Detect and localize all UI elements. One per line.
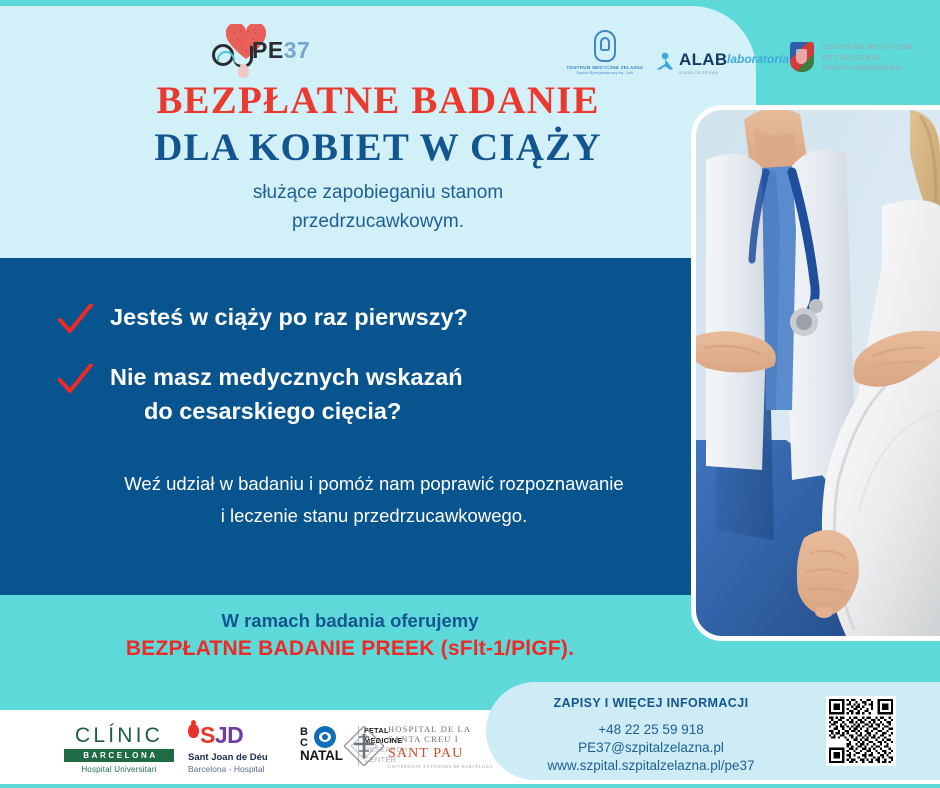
sjd-line2: Barcelona - Hospital — [188, 764, 292, 774]
headline-line1: BEZPŁATNE BADANIE — [0, 78, 756, 124]
pe37-letter-p: P — [252, 37, 268, 63]
checklist: Jesteś w ciąży po raz pierwszy? Nie masz… — [58, 300, 678, 454]
clinic-name: CLÍNIC — [64, 724, 174, 747]
contact-title: ZAPISY I WIĘCEJ INFORMACJI — [506, 696, 796, 710]
checklist-item-text: Nie masz medycznych wskazań do cesarskie… — [110, 360, 678, 428]
checklist-item-text: Jesteś w ciąży po raz pierwszy? — [110, 300, 678, 334]
clinic-barcelona-bar: BARCELONA — [64, 749, 174, 762]
contact-phone[interactable]: +48 22 25 59 918 — [506, 721, 796, 739]
logo-sant-joan-de-deu: SJD Sant Joan de Déu Barcelona - Hospita… — [188, 724, 292, 774]
qr-code[interactable] — [826, 696, 896, 766]
hero-headline: BEZPŁATNE BADANIE DLA KOBIET W CIĄŻY słu… — [0, 78, 756, 236]
alab-tagline: szansa na zdrowie — [679, 70, 719, 75]
cmkp-line1: CENTRUM MEDYCZNE — [822, 42, 914, 53]
body-paragraph: Weź udział w badaniu i pomóż nam poprawi… — [58, 468, 690, 532]
sant-pau-line2: SANTA CREU I — [388, 734, 494, 744]
offer-block: W ramach badania oferujemy BEZPŁATNE BAD… — [0, 608, 700, 664]
checklist-item-line2: do cesarskiego cięcia? — [144, 394, 678, 428]
sjd-letter-d: D — [227, 722, 243, 748]
checklist-item: Nie masz medycznych wskazań do cesarskie… — [58, 360, 678, 428]
bcnatal-natal: NATAL — [300, 748, 343, 763]
contact-email[interactable]: PE37@szpitalzelazna.pl — [506, 739, 796, 757]
bcnatal-bc: B C — [300, 727, 308, 749]
pe37-wordmark: PE37 — [252, 37, 310, 64]
sjd-letter-s: S — [200, 722, 215, 748]
alab-italic: laboratoria — [727, 52, 789, 66]
check-icon — [58, 304, 94, 334]
header-logo-row: PE37 CENTRUM MEDYCZNE ŻELAZNA Szpital Sp… — [0, 14, 940, 78]
headline-line2: DLA KOBIET W CIĄŻY — [0, 124, 756, 172]
sjd-abbreviation: SJD — [200, 722, 243, 749]
hero-subhead: służące zapobieganiu stanom przedrzucawk… — [0, 178, 756, 236]
paragraph-line2: i leczenie stanu przedrzucawkowego. — [58, 500, 690, 532]
contact-text: ZAPISY I WIĘCEJ INFORMACJI +48 22 25 59 … — [506, 696, 796, 775]
poster-root: PE37 CENTRUM MEDYCZNE ŻELAZNA Szpital Sp… — [0, 0, 940, 788]
cmkp-text: CENTRUM MEDYCZNE KSZTAŁCENIA PODYPLOMOWE… — [822, 42, 914, 74]
sant-pau-cross-icon — [344, 726, 384, 766]
subhead-line1: służące zapobieganiu stanom — [0, 178, 756, 207]
pe37-number: 37 — [284, 37, 311, 63]
pe37-logo: PE37 — [196, 24, 300, 76]
eye-icon — [314, 726, 336, 748]
sjd-line1: Sant Joan de Déu — [188, 752, 292, 763]
zelazna-line1: CENTRUM MEDYCZNE ŻELAZNA — [562, 65, 648, 70]
sjd-letter-j: J — [215, 722, 227, 748]
logo-clinic-barcelona: CLÍNIC BARCELONA Hospital Universitari — [64, 724, 174, 774]
subhead-line2: przedrzucawkowym. — [0, 207, 756, 236]
contact-panel: ZAPISY I WIĘCEJ INFORMACJI +48 22 25 59 … — [486, 682, 940, 780]
bottom-teal-hairline — [0, 784, 940, 788]
partner-logo-row: CLÍNIC BARCELONA Hospital Universitari S… — [0, 718, 500, 782]
sant-pau-name: SANT PAU — [388, 746, 494, 762]
alab-name: ALAB — [679, 50, 727, 70]
sjd-mark-row: SJD — [188, 724, 292, 750]
cmkp-line2: KSZTAŁCENIA — [822, 53, 914, 64]
zelazna-line2: Szpital Specjalistyczny św. Zofii — [562, 71, 648, 75]
alab-mark-icon — [655, 52, 675, 70]
cmkp-shield-icon — [790, 42, 814, 72]
zelazna-mark-icon — [594, 30, 616, 62]
doctor-with-pregnant-woman-photo — [696, 110, 940, 636]
offer-line1: W ramach badania oferujemy — [0, 608, 700, 634]
check-icon — [58, 364, 94, 394]
clinic-subtitle: Hospital Universitari — [64, 765, 174, 774]
offer-line2: BEZPŁATNE BADANIE PREEK (sFlt-1/PlGF). — [0, 634, 700, 664]
checklist-item-line1: Jesteś w ciąży po raz pierwszy? — [110, 304, 468, 330]
flame-icon — [188, 724, 199, 738]
logo-cmkp: CENTRUM MEDYCZNE KSZTAŁCENIA PODYPLOMOWE… — [790, 40, 936, 86]
contact-lines: +48 22 25 59 918 PE37@szpitalzelazna.pl … — [506, 721, 796, 775]
sant-pau-line1: HOSPITAL DE LA — [388, 724, 494, 734]
contact-website[interactable]: www.szpital.szpitalzelazna.pl/pe37 — [506, 757, 796, 775]
checklist-item-line1: Nie masz medycznych wskazań — [110, 364, 463, 390]
paragraph-line1: Weź udział w badaniu i pomóż nam poprawi… — [58, 468, 690, 500]
stethoscope-chestpiece-icon — [212, 44, 234, 66]
blood-drop-icon — [238, 64, 249, 78]
pe37-letter-e: E — [268, 37, 284, 63]
cmkp-line3: PODYPLOMOWEGO — [822, 63, 914, 74]
checklist-item: Jesteś w ciąży po raz pierwszy? — [58, 300, 678, 334]
sant-pau-text: HOSPITAL DE LA SANTA CREU I SANT PAU UNI… — [388, 724, 494, 769]
sant-pau-university: UNIVERSITAT AUTÒNOMA DE BARCELONA — [388, 764, 494, 769]
